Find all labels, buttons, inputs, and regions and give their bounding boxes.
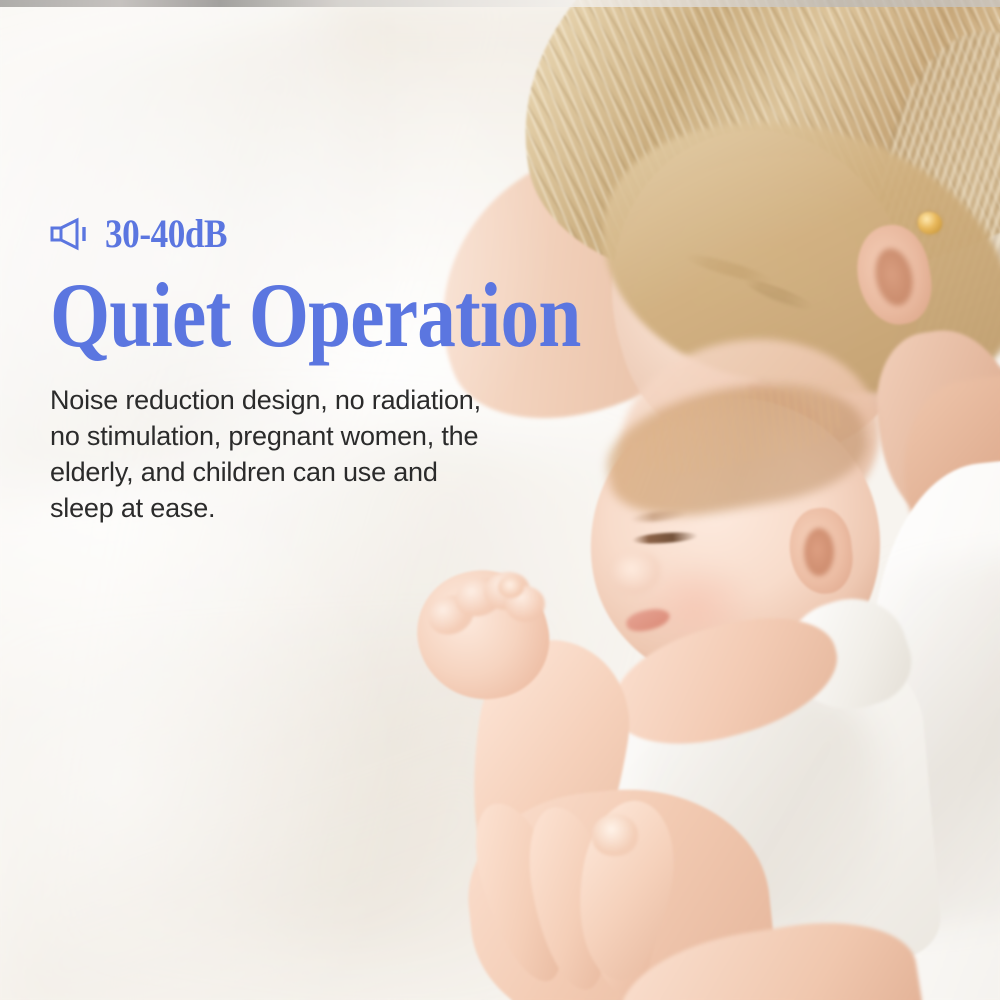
description-line: Noise reduction design, no radiation, [50, 382, 550, 418]
description-line: sleep at ease. [50, 490, 550, 526]
mother-thumbnail [592, 814, 638, 856]
speaker-icon [50, 217, 92, 251]
product-feature-banner: 30-40dB Quiet Operation Noise reduction … [0, 0, 1000, 1000]
feature-description: Noise reduction design, no radiation, no… [50, 382, 550, 526]
top-edge-strip [0, 0, 1000, 7]
page-title: Quiet Operation [50, 270, 487, 360]
sheet-fold-bottom-left [0, 640, 520, 1000]
feature-text-overlay: 30-40dB Quiet Operation Noise reduction … [50, 208, 570, 526]
noise-level-spec-row: 30-40dB [50, 208, 570, 260]
baby-fingernail [498, 576, 524, 598]
noise-level-value: 30-40dB [105, 214, 227, 254]
mother-earring [918, 212, 942, 234]
baby-ear-inner [804, 528, 834, 576]
description-line: elderly, and children can use and [50, 454, 550, 490]
description-line: no stimulation, pregnant women, the [50, 418, 550, 454]
